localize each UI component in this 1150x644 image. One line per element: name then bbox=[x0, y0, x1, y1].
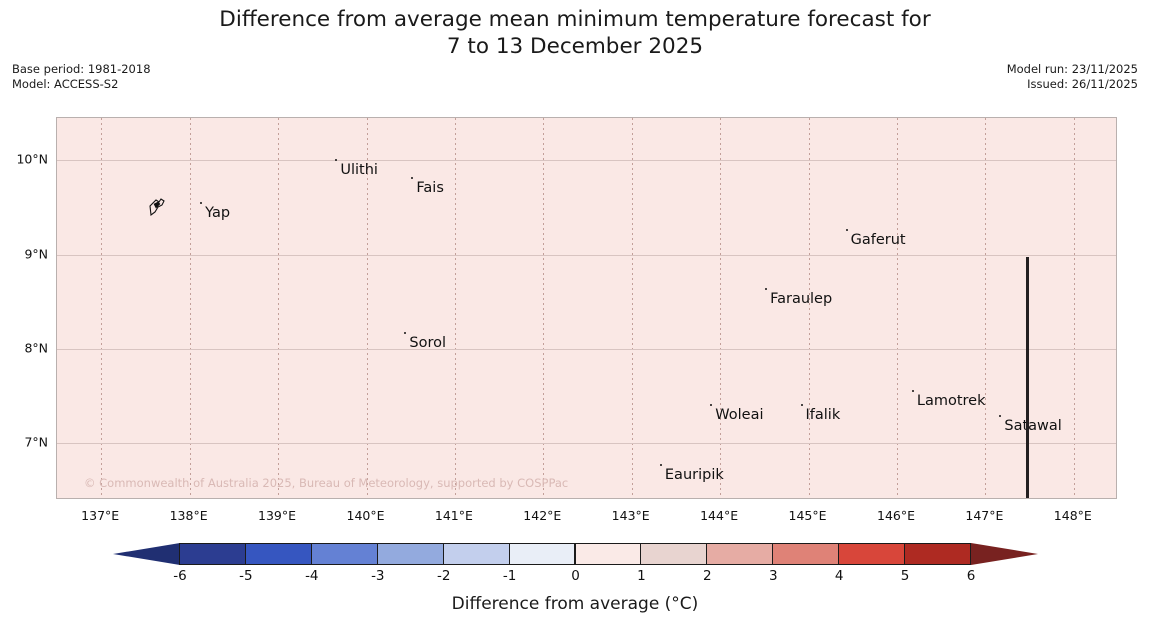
place-marker-dot bbox=[801, 404, 803, 406]
model-text: Model: ACCESS-S2 bbox=[12, 77, 151, 92]
lon-tick-label: 141°E bbox=[435, 508, 473, 523]
title-line-1: Difference from average mean minimum tem… bbox=[0, 6, 1150, 33]
colorbar-tick-label: 2 bbox=[703, 568, 712, 584]
copyright-credit: © Commonwealth of Australia 2025, Bureau… bbox=[84, 476, 568, 490]
lon-tick-label: 137°E bbox=[81, 508, 119, 523]
place-label-woleai: Woleai bbox=[711, 408, 763, 423]
colorbar-tick-label: -2 bbox=[437, 568, 450, 584]
lat-tick-label: 10°N bbox=[48, 152, 80, 167]
colorbar-tick-label: -1 bbox=[503, 568, 516, 584]
place-name-text: Sorol bbox=[405, 336, 446, 351]
place-marker-dot bbox=[846, 229, 848, 231]
colorbar-tick-label: -6 bbox=[173, 568, 186, 584]
colorbar-segment bbox=[575, 543, 642, 565]
place-label-yap: Yap bbox=[201, 206, 230, 221]
colorbar-tick-label: -3 bbox=[371, 568, 384, 584]
lat-tick-label: 7°N bbox=[48, 435, 72, 450]
colorbar-under-arrow bbox=[113, 543, 180, 565]
place-name-text: Lamotrek bbox=[913, 394, 986, 409]
yap-island-shape-inner bbox=[154, 202, 160, 208]
lon-tick-label: 140°E bbox=[346, 508, 384, 523]
lon-tick-label: 142°E bbox=[523, 508, 561, 523]
lat-tick-label: 9°N bbox=[48, 246, 72, 261]
lon-tick-label: 144°E bbox=[700, 508, 738, 523]
place-label-ulithi: Ulithi bbox=[336, 163, 378, 178]
colorbar-segment bbox=[245, 543, 312, 565]
colorbar-segment bbox=[706, 543, 773, 565]
lat-tick-text: 8°N bbox=[24, 341, 48, 356]
colorbar-segment bbox=[904, 543, 971, 565]
forecast-map-page: Difference from average mean minimum tem… bbox=[0, 0, 1150, 644]
coastline-layer bbox=[57, 118, 1117, 499]
territorial-boundary-line bbox=[1026, 257, 1029, 498]
place-label-eauripik: Eauripik bbox=[661, 468, 724, 483]
colorbar-segment bbox=[838, 543, 905, 565]
place-name-text: Ifalik bbox=[802, 408, 841, 423]
place-name-text: Satawal bbox=[1000, 419, 1061, 434]
issued-text: Issued: 26/11/2025 bbox=[1007, 77, 1138, 92]
lon-tick-label: 139°E bbox=[258, 508, 296, 523]
place-label-fais: Fais bbox=[412, 181, 443, 196]
lat-tick-text: 9°N bbox=[24, 246, 48, 261]
place-name-text: Yap bbox=[201, 206, 230, 221]
metadata-left: Base period: 1981-2018 Model: ACCESS-S2 bbox=[12, 62, 151, 92]
colorbar-segment bbox=[311, 543, 378, 565]
lon-tick-label: 145°E bbox=[788, 508, 826, 523]
place-label-gaferut: Gaferut bbox=[847, 233, 906, 248]
colorbar-tick-label: 1 bbox=[637, 568, 646, 584]
lat-tick-text: 7°N bbox=[24, 435, 48, 450]
colorbar-segment bbox=[443, 543, 510, 565]
colorbar-axis-label: Difference from average (°C) bbox=[0, 594, 1150, 614]
lon-tick-label: 143°E bbox=[612, 508, 650, 523]
colorbar-segment bbox=[640, 543, 707, 565]
colorbar-tick-label: 3 bbox=[769, 568, 778, 584]
lat-tick-text: 10°N bbox=[16, 152, 48, 167]
lon-tick-label: 146°E bbox=[877, 508, 915, 523]
place-marker-dot bbox=[200, 202, 202, 204]
colorbar bbox=[180, 543, 971, 565]
colorbar-tick-label: 5 bbox=[901, 568, 910, 584]
colorbar-tick-label: -5 bbox=[239, 568, 252, 584]
colorbar-segment bbox=[377, 543, 444, 565]
colorbar-segment bbox=[509, 543, 576, 565]
place-name-text: Eauripik bbox=[661, 468, 724, 483]
place-label-lamotrek: Lamotrek bbox=[913, 394, 986, 409]
metadata-right: Model run: 23/11/2025 Issued: 26/11/2025 bbox=[1007, 62, 1138, 92]
lon-tick-label: 138°E bbox=[170, 508, 208, 523]
colorbar-segment bbox=[772, 543, 839, 565]
place-marker-dot bbox=[660, 464, 662, 466]
place-name-text: Woleai bbox=[711, 408, 763, 423]
place-name-text: Faraulep bbox=[766, 292, 832, 307]
place-marker-dot bbox=[765, 288, 767, 290]
place-label-ifalik: Ifalik bbox=[802, 408, 841, 423]
base-period-text: Base period: 1981-2018 bbox=[12, 62, 151, 77]
lon-tick-label: 147°E bbox=[965, 508, 1003, 523]
colorbar-tick-label: -4 bbox=[305, 568, 318, 584]
colorbar-segment bbox=[179, 543, 246, 565]
place-label-satawal: Satawal bbox=[1000, 419, 1061, 434]
title-line-2: 7 to 13 December 2025 bbox=[0, 33, 1150, 60]
colorbar-tick-label: 4 bbox=[835, 568, 844, 584]
map-plot-area: YapUlithiFaisSorolGaferutFaraulepWoleaiI… bbox=[56, 117, 1117, 499]
lat-tick-label: 8°N bbox=[48, 341, 72, 356]
place-name-text: Gaferut bbox=[847, 233, 906, 248]
place-label-sorol: Sorol bbox=[405, 336, 446, 351]
place-name-text: Ulithi bbox=[336, 163, 378, 178]
lon-tick-label: 148°E bbox=[1054, 508, 1092, 523]
colorbar-over-arrow bbox=[971, 543, 1038, 565]
place-name-text: Fais bbox=[412, 181, 443, 196]
place-label-faraulep: Faraulep bbox=[766, 292, 832, 307]
page-title: Difference from average mean minimum tem… bbox=[0, 6, 1150, 60]
model-run-text: Model run: 23/11/2025 bbox=[1007, 62, 1138, 77]
colorbar-tick-label: 6 bbox=[967, 568, 976, 584]
colorbar-tick-label: 0 bbox=[571, 568, 580, 584]
